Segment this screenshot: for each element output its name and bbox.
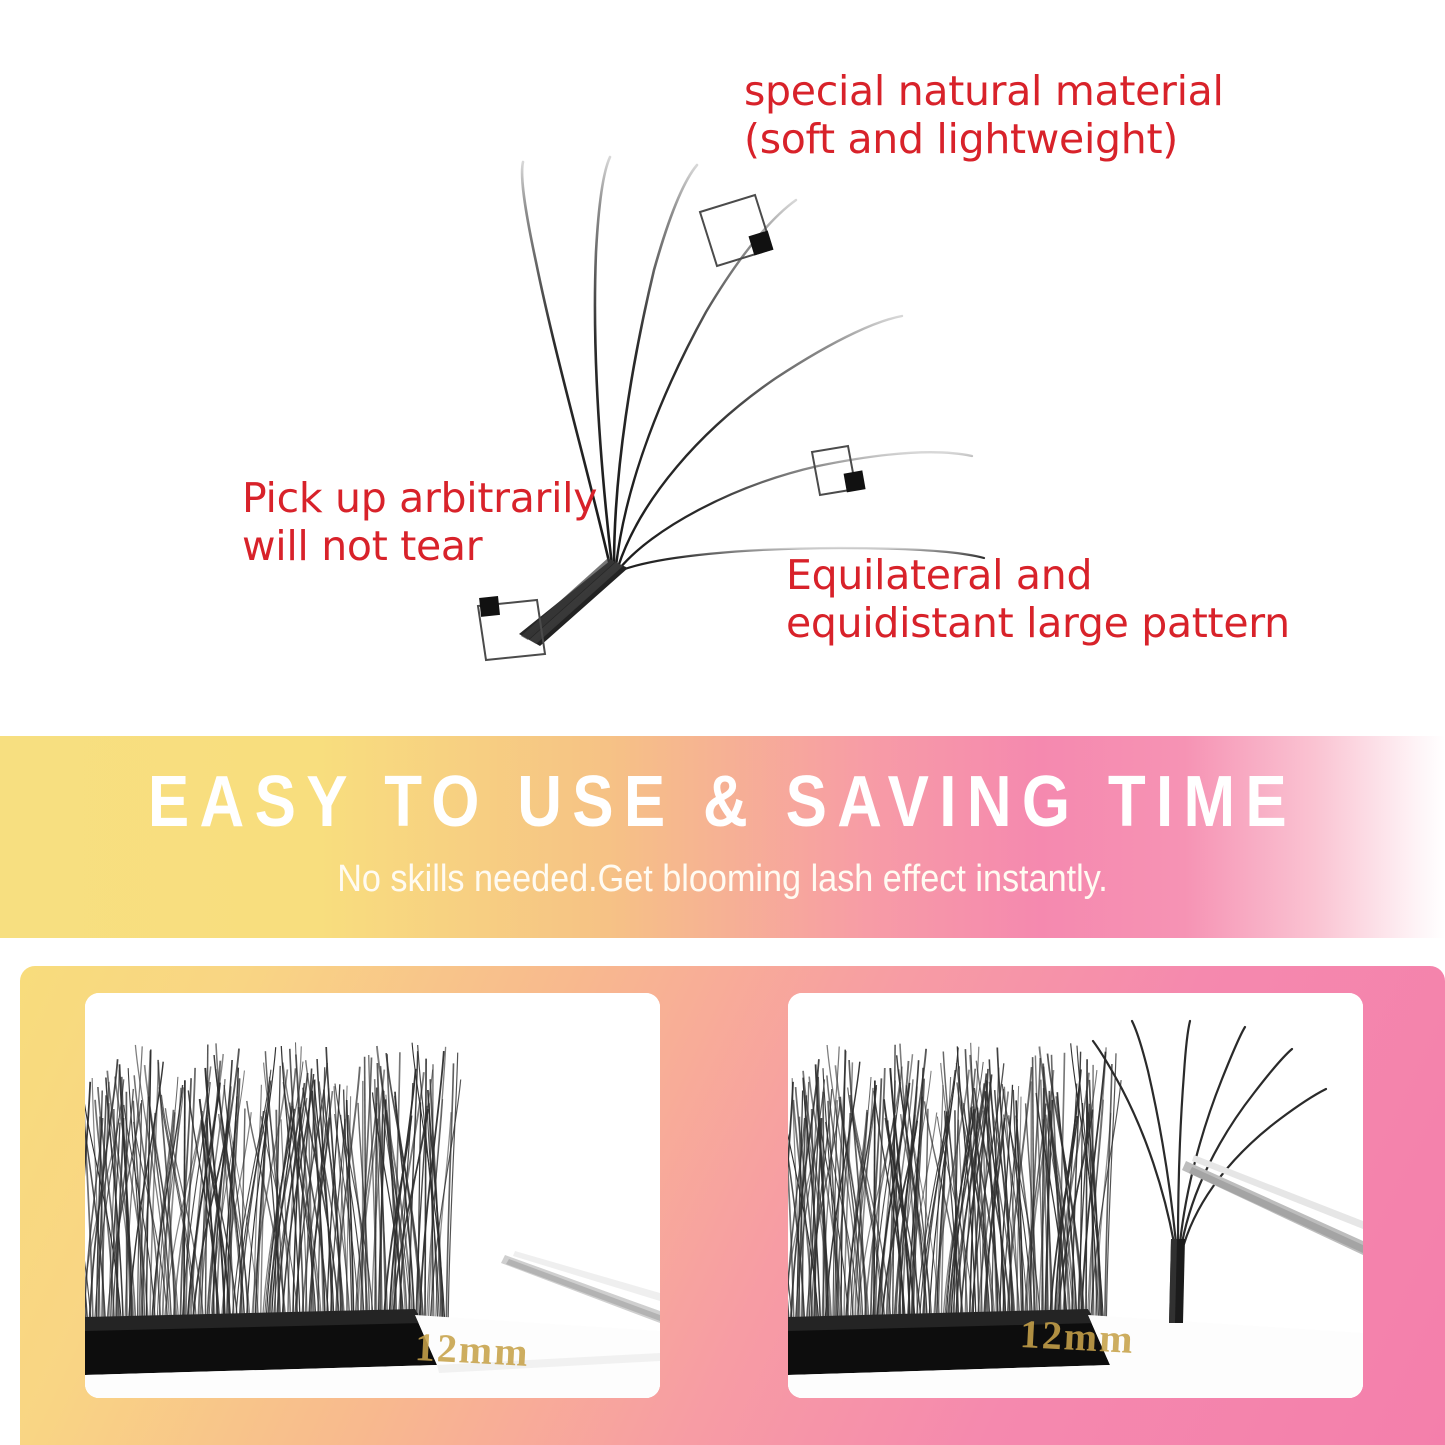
callout-marker-middle <box>812 446 866 495</box>
hero-feature-section: special natural material (soft and light… <box>0 0 1445 735</box>
banner-title: EASY TO USE & SAVING TIME <box>101 766 1344 838</box>
headline-banner: EASY TO USE & SAVING TIME No skills need… <box>0 736 1445 938</box>
gallery-card-lash-tray: 12mm <box>85 993 660 1398</box>
lash-fan-base <box>519 558 628 646</box>
size-label-left: 12mm <box>414 1323 531 1376</box>
callout-label-equilateral-equidistant: Equilateral and equidistant large patter… <box>786 552 1290 647</box>
photo-gallery-panel: 12mm <box>20 966 1445 1445</box>
callout-label-pick-up-arbitrarily: Pick up arbitrarily will not tear <box>242 475 597 570</box>
product-infographic: special natural material (soft and light… <box>0 0 1445 1445</box>
callout-label-special-natural-material: special natural material (soft and light… <box>744 68 1224 163</box>
size-label-right: 12mm <box>1019 1310 1136 1363</box>
banner-subtitle: No skills needed.Get blooming lash effec… <box>72 860 1373 898</box>
gallery-card-single-fan: 12mm <box>788 993 1363 1398</box>
lash-tray-with-tweezer-photo <box>85 993 660 1398</box>
